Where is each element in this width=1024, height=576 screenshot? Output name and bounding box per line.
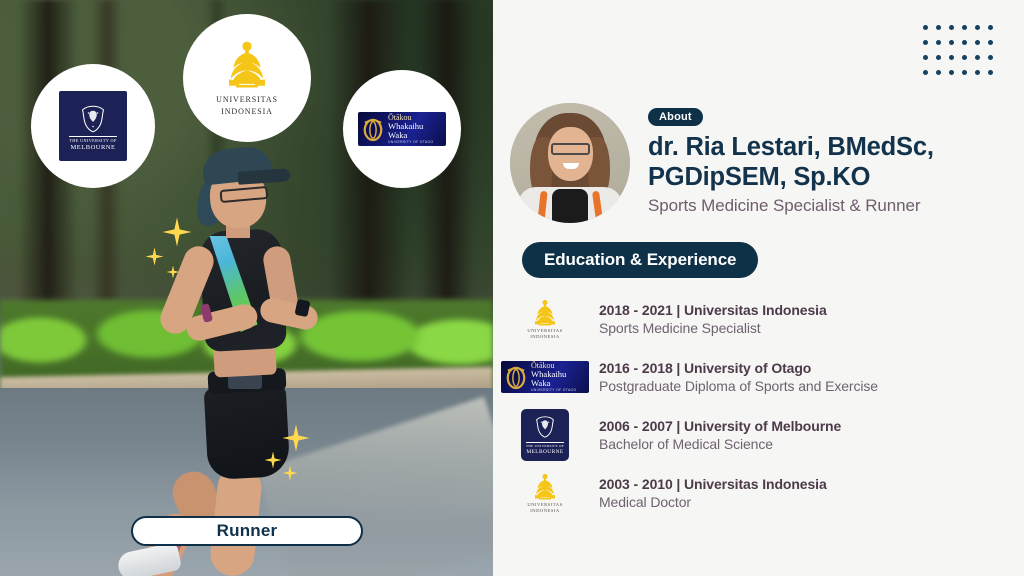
about-badge: About bbox=[648, 108, 703, 126]
education-text: 2003 - 2010 | Universitas Indonesia Medi… bbox=[599, 476, 1021, 510]
list-item: UNIVERSITAS INDONESIA 2003 - 2010 | Univ… bbox=[501, 464, 1021, 522]
dot bbox=[949, 40, 954, 45]
melbourne-logo-line2: MELBOURNE bbox=[71, 144, 116, 151]
makara-emblem-icon bbox=[530, 299, 560, 328]
education-title: 2006 - 2007 | University of Melbourne bbox=[599, 418, 1021, 434]
education-text: 2018 - 2021 | Universitas Indonesia Spor… bbox=[599, 302, 1021, 336]
melbourne-logo-line1: THE UNIVERSITY OF bbox=[526, 442, 564, 448]
melbourne-crest-icon bbox=[78, 104, 108, 134]
dot bbox=[923, 55, 928, 60]
otago-logo-line2: Whakaihu Waka bbox=[388, 122, 442, 140]
education-logo: THE UNIVERSITY OF MELBOURNE bbox=[501, 409, 589, 461]
education-subtitle: Bachelor of Medical Science bbox=[599, 436, 1021, 452]
list-item: UNIVERSITAS INDONESIA 2018 - 2021 | Univ… bbox=[501, 290, 1021, 348]
about-header: About dr. Ria Lestari, BMedSc, PGDipSEM,… bbox=[510, 103, 1008, 223]
dot bbox=[962, 40, 967, 45]
profile-role: Sports Medicine Specialist & Runner bbox=[648, 196, 1008, 216]
dot bbox=[923, 70, 928, 75]
education-title: 2018 - 2021 | Universitas Indonesia bbox=[599, 302, 1021, 318]
dot bbox=[936, 70, 941, 75]
logo-circle-universitas-indonesia: UNIVERSITAS INDONESIA bbox=[183, 14, 311, 142]
avatar bbox=[510, 103, 630, 223]
dot bbox=[988, 55, 993, 60]
dot bbox=[988, 70, 993, 75]
dot bbox=[949, 55, 954, 60]
otago-logo-line3: UNIVERSITY OF OTAGO bbox=[388, 141, 442, 144]
dot bbox=[949, 70, 954, 75]
education-text: 2006 - 2007 | University of Melbourne Ba… bbox=[599, 418, 1021, 452]
education-list: UNIVERSITAS INDONESIA 2018 - 2021 | Univ… bbox=[501, 290, 1021, 522]
avatar-glasses bbox=[551, 143, 590, 155]
dot bbox=[975, 25, 980, 30]
logo-circle-otago: Ōtākou Whakaihu Waka UNIVERSITY OF OTAGO bbox=[343, 70, 461, 188]
education-title: 2003 - 2010 | Universitas Indonesia bbox=[599, 476, 1021, 492]
dot bbox=[923, 25, 928, 30]
universitas-indonesia-logo-icon: UNIVERSITAS INDONESIA bbox=[527, 299, 562, 339]
dot bbox=[936, 25, 941, 30]
dot bbox=[975, 70, 980, 75]
dot bbox=[975, 40, 980, 45]
logo-circle-melbourne: THE UNIVERSITY OF MELBOURNE bbox=[31, 64, 155, 188]
universitas-indonesia-logo-icon: UNIVERSITAS INDONESIA bbox=[527, 473, 562, 513]
otago-logo-text: Ōtākou Whakaihu Waka UNIVERSITY OF OTAGO bbox=[388, 114, 442, 144]
education-subtitle: Sports Medicine Specialist bbox=[599, 320, 1021, 336]
melbourne-logo-icon: THE UNIVERSITY OF MELBOURNE bbox=[59, 91, 127, 161]
runner-figure bbox=[110, 140, 360, 576]
dot bbox=[936, 40, 941, 45]
dot bbox=[962, 70, 967, 75]
ui-logo-line1: UNIVERSITAS bbox=[216, 95, 278, 104]
dot bbox=[975, 55, 980, 60]
runner-cap-brim bbox=[238, 168, 291, 185]
ui-logo-line2: INDONESIA bbox=[530, 334, 560, 339]
runner-shorts bbox=[204, 384, 291, 480]
education-text: 2016 - 2018 | University of Otago Postgr… bbox=[599, 360, 1021, 394]
otago-logo-text: Ōtākou Whakaihu Waka UNIVERSITY OF OTAGO bbox=[531, 362, 585, 392]
education-section-title: Education & Experience bbox=[522, 242, 758, 278]
dot bbox=[962, 55, 967, 60]
education-logo: UNIVERSITAS INDONESIA bbox=[501, 473, 589, 513]
dot bbox=[923, 40, 928, 45]
dot bbox=[936, 55, 941, 60]
education-logo: Ōtākou Whakaihu Waka UNIVERSITY OF OTAGO bbox=[501, 361, 589, 393]
melbourne-crest-icon bbox=[533, 415, 557, 439]
education-logo: UNIVERSITAS INDONESIA bbox=[501, 299, 589, 339]
ui-logo-line2: INDONESIA bbox=[221, 107, 273, 116]
dot bbox=[988, 25, 993, 30]
otago-logo-icon: Ōtākou Whakaihu Waka UNIVERSITY OF OTAGO bbox=[358, 112, 446, 146]
profile-slide: THE UNIVERSITY OF MELBOURNE bbox=[0, 0, 1024, 576]
education-subtitle: Postgraduate Diploma of Sports and Exerc… bbox=[599, 378, 1021, 394]
melbourne-logo-icon: THE UNIVERSITY OF MELBOURNE bbox=[521, 409, 569, 461]
otago-logo-icon: Ōtākou Whakaihu Waka UNIVERSITY OF OTAGO bbox=[501, 361, 589, 393]
otago-logo-line3: UNIVERSITY OF OTAGO bbox=[531, 389, 585, 392]
runner-photo-panel: THE UNIVERSITY OF MELBOURNE bbox=[0, 0, 493, 576]
ui-logo-line2: INDONESIA bbox=[530, 508, 560, 513]
makara-emblem-icon bbox=[530, 473, 560, 502]
otago-emblem-icon bbox=[505, 364, 527, 390]
otago-logo-line2: Whakaihu Waka bbox=[531, 370, 585, 388]
list-item: THE UNIVERSITY OF MELBOURNE 2006 - 2007 … bbox=[501, 406, 1021, 464]
melbourne-logo-line1: THE UNIVERSITY OF bbox=[69, 136, 116, 143]
dot-grid-decoration bbox=[923, 25, 1001, 85]
runner-caption-badge[interactable]: Runner bbox=[131, 516, 363, 546]
education-title: 2016 - 2018 | University of Otago bbox=[599, 360, 1021, 376]
list-item: Ōtākou Whakaihu Waka UNIVERSITY OF OTAGO… bbox=[501, 348, 1021, 406]
runner-shoe bbox=[116, 542, 182, 576]
avatar-shirt bbox=[552, 189, 588, 223]
dot bbox=[988, 40, 993, 45]
makara-emblem-icon bbox=[220, 40, 274, 92]
dot bbox=[962, 25, 967, 30]
universitas-indonesia-logo-icon: UNIVERSITAS INDONESIA bbox=[216, 40, 278, 116]
page-title: dr. Ria Lestari, BMedSc, PGDipSEM, Sp.KO bbox=[648, 133, 1008, 192]
otago-emblem-icon bbox=[362, 116, 384, 142]
dot bbox=[949, 25, 954, 30]
education-subtitle: Medical Doctor bbox=[599, 494, 1021, 510]
profile-content-panel: About dr. Ria Lestari, BMedSc, PGDipSEM,… bbox=[493, 0, 1024, 576]
about-header-text: About dr. Ria Lestari, BMedSc, PGDipSEM,… bbox=[648, 103, 1008, 216]
melbourne-logo-line2: MELBOURNE bbox=[526, 449, 563, 455]
